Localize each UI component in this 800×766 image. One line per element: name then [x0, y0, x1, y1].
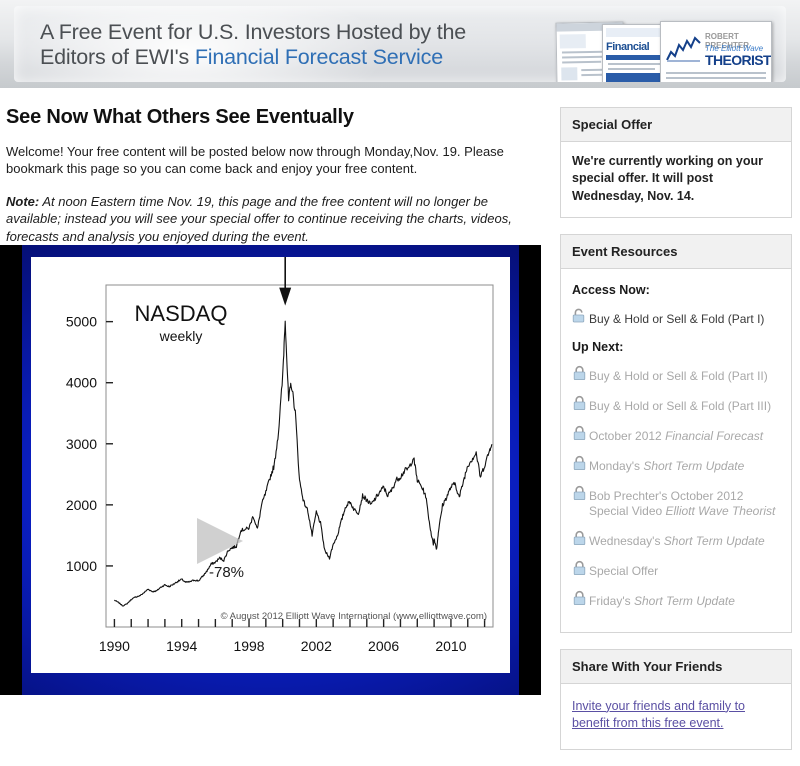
resource-item-label: Friday's Short Term Update	[589, 590, 735, 609]
share-panel: Share With Your Friends Invite your frie…	[560, 649, 792, 750]
resource-item[interactable]: Special Offer	[572, 560, 780, 579]
note-label: Note:	[6, 194, 39, 209]
special-offer-text: We're currently working on your special …	[572, 153, 780, 205]
banner-headline-line1-rest: for U.S. Investors Hosted by the	[162, 20, 466, 44]
banner-headline-service-name: Financial Forecast Service	[195, 45, 443, 69]
locked-padlock-icon	[572, 530, 587, 548]
resource-item-label: Buy & Hold or Sell & Fold (Part II)	[589, 365, 768, 384]
resource-item[interactable]: October 2012 Financial Forecast	[572, 425, 780, 444]
up-next-list: Buy & Hold or Sell & Fold (Part II)Buy &…	[572, 365, 780, 609]
thumbnail-wave-chart-icon	[666, 36, 702, 62]
locked-padlock-icon	[572, 455, 587, 473]
header-banner-inner: A Free Event for U.S. Investors Hosted b…	[14, 6, 786, 82]
svg-text:5000: 5000	[66, 314, 97, 330]
svg-text:weekly: weekly	[159, 328, 203, 344]
banner-headline-line2-lead: Editors of EWI's	[40, 45, 195, 69]
svg-text:© August 2012 Elliott Wave Int: © August 2012 Elliott Wave International…	[221, 611, 487, 622]
resource-item[interactable]: Buy & Hold or Sell & Fold (Part I)	[572, 308, 780, 327]
video-player[interactable]: 1000200030004000500019901994199820022006…	[0, 245, 541, 695]
svg-text:2000: 2000	[66, 497, 97, 513]
thumbnail-theorist-title: THEORIST	[705, 52, 771, 68]
resource-item-publication: Elliott Wave Theorist	[666, 504, 776, 518]
resource-item-label: Buy & Hold or Sell & Fold (Part III)	[589, 395, 771, 414]
event-resources-panel: Event Resources Access Now: Buy & Hold o…	[560, 234, 792, 633]
special-offer-heading: Special Offer	[561, 108, 791, 142]
svg-text:NASDAQ: NASDAQ	[135, 301, 228, 326]
resource-item-label: Buy & Hold or Sell & Fold (Part I)	[589, 308, 764, 327]
access-now-label: Access Now:	[572, 282, 780, 299]
welcome-paragraph: Welcome! Your free content will be poste…	[6, 143, 542, 178]
resource-item[interactable]: Friday's Short Term Update	[572, 590, 780, 609]
header-banner: A Free Event for U.S. Investors Hosted b…	[0, 0, 800, 88]
locked-padlock-icon	[572, 485, 587, 503]
locked-padlock-icon	[572, 395, 587, 413]
svg-text:1998: 1998	[233, 638, 264, 654]
thumbnail-financial-title: Financial	[606, 41, 649, 53]
resource-item[interactable]: Bob Prechter's October 2012 Special Vide…	[572, 485, 780, 519]
resource-item[interactable]: Buy & Hold or Sell & Fold (Part II)	[572, 365, 780, 384]
main-content: See Now What Others See Eventually Welco…	[0, 88, 548, 246]
resource-item-label: Special Offer	[589, 560, 658, 579]
resource-item-publication: Financial Forecast	[665, 429, 763, 443]
share-heading: Share With Your Friends	[561, 650, 791, 684]
resource-item-publication: Short Term Update	[643, 459, 744, 473]
note-paragraph: Note: At noon Eastern time Nov. 19, this…	[6, 193, 542, 246]
locked-padlock-icon	[572, 560, 587, 578]
publication-thumbnails: Financial ROBERT PRECHTER The Elliott Wa…	[554, 10, 786, 82]
up-next-label: Up Next:	[572, 339, 780, 356]
special-offer-body: We're currently working on your special …	[561, 142, 791, 217]
nasdaq-chart-svg: 1000200030004000500019901994199820022006…	[31, 257, 510, 673]
svg-text:1990: 1990	[99, 638, 130, 654]
resource-item-label: Bob Prechter's October 2012 Special Vide…	[589, 485, 780, 519]
resource-item-publication: Short Term Update	[634, 594, 735, 608]
resource-item[interactable]: Buy & Hold or Sell & Fold (Part III)	[572, 395, 780, 414]
svg-text:1000: 1000	[66, 558, 97, 574]
svg-text:3000: 3000	[66, 436, 97, 452]
unlocked-padlock-icon	[572, 308, 587, 326]
special-offer-panel: Special Offer We're currently working on…	[560, 107, 792, 218]
share-body: Invite your friends and family to benefi…	[561, 684, 791, 749]
access-now-list: Buy & Hold or Sell & Fold (Part I)	[572, 308, 780, 327]
svg-text:2006: 2006	[368, 638, 399, 654]
sidebar: Special Offer We're currently working on…	[560, 107, 792, 766]
svg-text:2010: 2010	[435, 638, 466, 654]
resource-item[interactable]: Wednesday's Short Term Update	[572, 530, 780, 549]
svg-text:1994: 1994	[166, 638, 197, 654]
nasdaq-chart: 1000200030004000500019901994199820022006…	[31, 257, 510, 673]
page-title: See Now What Others See Eventually	[6, 106, 548, 129]
banner-headline: A Free Event for U.S. Investors Hosted b…	[40, 20, 560, 70]
locked-padlock-icon	[572, 365, 587, 383]
svg-text:4000: 4000	[66, 375, 97, 391]
resource-item-label: October 2012 Financial Forecast	[589, 425, 763, 444]
event-resources-heading: Event Resources	[561, 235, 791, 269]
svg-text:2002: 2002	[301, 638, 332, 654]
locked-padlock-icon	[572, 590, 587, 608]
resource-item[interactable]: Monday's Short Term Update	[572, 455, 780, 474]
banner-headline-line1-strong: A Free Event	[40, 20, 162, 44]
thumbnail-elliott-wave-theorist: ROBERT PRECHTER The Elliott Wave THEORIS…	[660, 21, 772, 82]
share-invite-link[interactable]: Invite your friends and family to benefi…	[572, 699, 745, 731]
resource-item-label: Wednesday's Short Term Update	[589, 530, 765, 549]
locked-padlock-icon	[572, 425, 587, 443]
resource-item-label: Monday's Short Term Update	[589, 455, 744, 474]
event-resources-body: Access Now: Buy & Hold or Sell & Fold (P…	[561, 269, 791, 632]
resource-item-publication: Short Term Update	[664, 534, 765, 548]
note-text: At noon Eastern time Nov. 19, this page …	[6, 194, 512, 244]
